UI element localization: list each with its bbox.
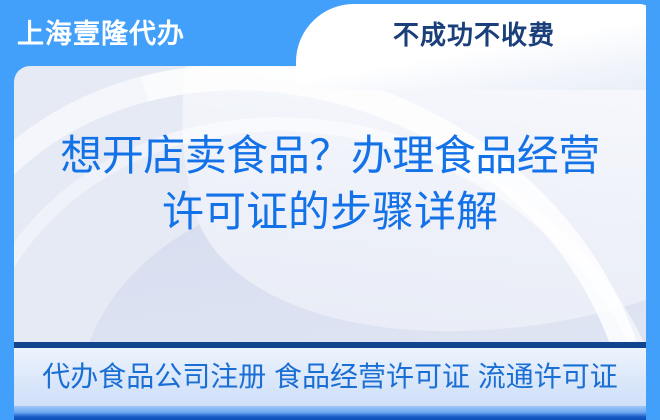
main-panel: 想开店卖食品？办理食品经营 许可证的步骤详解 bbox=[14, 66, 646, 342]
brand-name: 上海壹隆代办 bbox=[17, 17, 185, 51]
frame-rail-right bbox=[646, 0, 660, 420]
keyword-list: 代办食品公司注册 食品经营许可证 流通许可证 bbox=[42, 360, 618, 394]
headline-line-1: 想开店卖食品？办理食品经营 bbox=[14, 128, 646, 184]
tagline: 不成功不收费 bbox=[296, 18, 652, 52]
headline-line-2: 许可证的步骤详解 bbox=[14, 184, 646, 240]
footer-strip bbox=[14, 406, 646, 420]
frame-rail-left bbox=[0, 0, 14, 420]
headline: 想开店卖食品？办理食品经营 许可证的步骤详解 bbox=[14, 128, 646, 240]
promo-banner: 上海壹隆代办 不成功不收费 想开店卖食品？办理食品经营 许可证的步骤详解 代办食… bbox=[0, 0, 660, 420]
keyword-bar: 代办食品公司注册 食品经营许可证 流通许可证 bbox=[14, 348, 646, 406]
